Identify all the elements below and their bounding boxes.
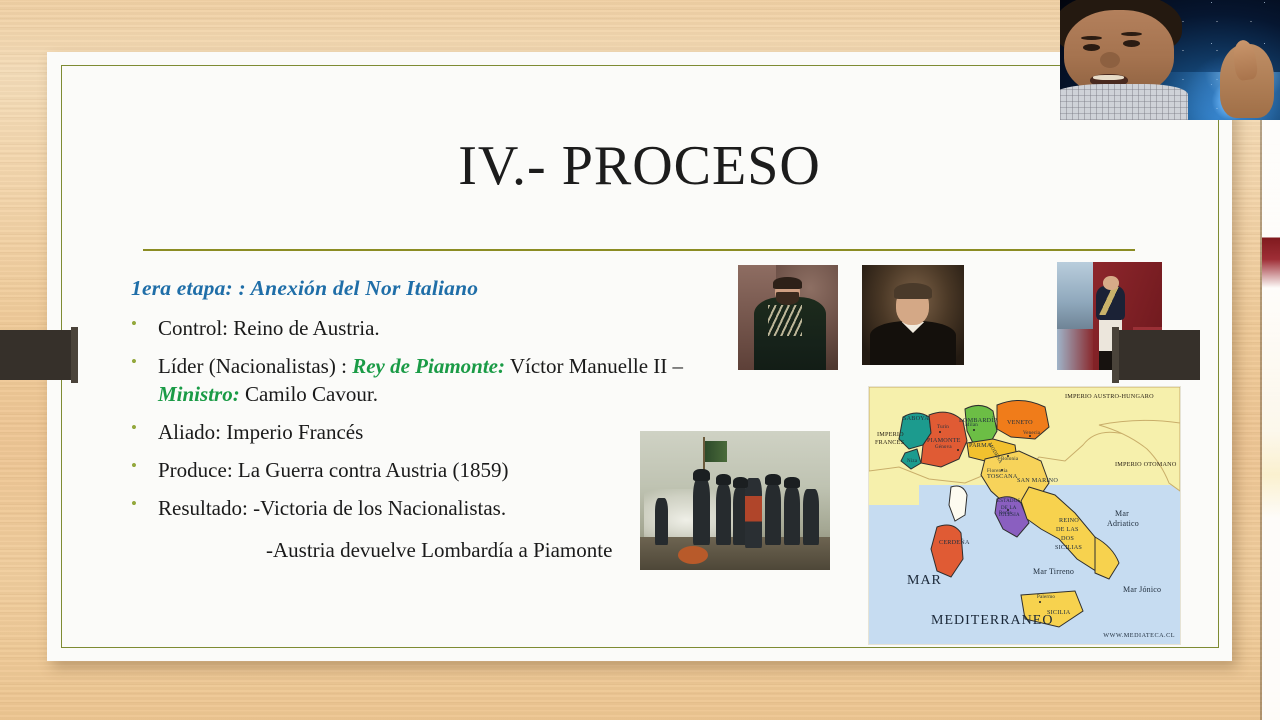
list-item: Líder (Nacionalistas) : Rey de Piamonte:… bbox=[131, 353, 751, 408]
bullet-text-lider: Líder (Nacionalistas) : Rey de Piamonte:… bbox=[145, 353, 751, 408]
map-label-mar-tirreno: Mar Tirreno bbox=[1033, 567, 1074, 576]
painting-battle-scene-1859 bbox=[640, 431, 830, 570]
map-label-dos-sicilias-3: DOS bbox=[1061, 535, 1074, 542]
map-label-toscana: TOSCANA bbox=[987, 473, 1018, 480]
map-watermark: WWW.MEDIATECA.CL bbox=[1103, 632, 1175, 639]
map-label-dos-sicilias-1: REINO bbox=[1059, 517, 1079, 524]
map-city-palermo: Palermo bbox=[1037, 595, 1055, 600]
bullet-text-resultado: Resultado: -Victoria de los Nacionalista… bbox=[145, 495, 612, 564]
map-label-mediterraneo: MEDITERRANEO bbox=[931, 613, 1053, 629]
title-divider-rule bbox=[143, 249, 1135, 251]
map-label-mar: MAR bbox=[907, 573, 942, 589]
map-italy-pre-unification: IMPERIO AUSTRO-HUNGARO IMPERIO FRANCÉS I… bbox=[868, 386, 1181, 645]
map-city-bolonia: Bolonia bbox=[1001, 457, 1018, 462]
map-city-venecia: Venecia bbox=[1023, 431, 1040, 436]
map-city-roma: Roma bbox=[999, 511, 1012, 516]
emphasis-ministro: Ministro: bbox=[158, 382, 240, 406]
emphasis-rey-de-piamonte: Rey de Piamonte: bbox=[352, 354, 505, 378]
bullet-dot-icon bbox=[131, 315, 145, 325]
page-title: IV.- PROCESO bbox=[47, 134, 1232, 198]
bullet-text-control: Control: Reino de Austria. bbox=[145, 315, 380, 342]
previous-slide-button[interactable] bbox=[0, 330, 78, 380]
presentation-viewer: IV.- PROCESO 1era etapa: : Anexión del N… bbox=[0, 0, 1280, 720]
map-city-milan: Milan bbox=[965, 423, 978, 428]
bullet-text-produce: Produce: La Guerra contra Austria (1859) bbox=[145, 457, 508, 484]
map-city-turin: Turin bbox=[937, 425, 949, 430]
list-item: Control: Reino de Austria. bbox=[131, 315, 751, 342]
map-label-imperio-frances: IMPERIO bbox=[877, 431, 904, 438]
bullet-dot-icon bbox=[131, 457, 145, 467]
map-label-mar-adriatico-1: Mar bbox=[1115, 509, 1129, 518]
lider-tail: Camilo Cavour. bbox=[240, 382, 378, 406]
resultado-line-1: Resultado: -Victoria de los Nacionalista… bbox=[158, 495, 612, 522]
nav-left-cap-icon bbox=[71, 327, 78, 383]
map-label-san-marino: SAN MARINO bbox=[1017, 477, 1058, 484]
map-label-imperio-austro-hungaro: IMPERIO AUSTRO-HUNGARO bbox=[1065, 393, 1154, 400]
map-label-imperio-otomano: IMPERIO OTOMANO bbox=[1115, 461, 1177, 468]
map-label-cerdena: CERDEÑA bbox=[939, 539, 970, 546]
map-label-dos-sicilias-4: SICILIAS bbox=[1055, 544, 1082, 551]
map-label-saboya: SABOYA bbox=[903, 415, 929, 422]
map-city-florencia: Florencia bbox=[987, 469, 1008, 474]
portrait-victor-emmanuel-ii bbox=[738, 265, 838, 370]
map-label-mar-jonico: Mar Jónico bbox=[1123, 585, 1161, 594]
map-city-genova: Génova bbox=[935, 445, 952, 450]
bullet-text-aliado: Aliado: Imperio Francés bbox=[145, 419, 363, 446]
resultado-line-2: -Austria devuelve Lombardía a Piamonte bbox=[158, 537, 612, 564]
map-label-dos-sicilias-2: DE LAS bbox=[1056, 526, 1079, 533]
lider-lead: Líder (Nacionalistas) : bbox=[158, 354, 352, 378]
nav-right-cap-icon bbox=[1112, 327, 1119, 383]
presenter-webcam-feed[interactable] bbox=[1060, 0, 1280, 120]
next-slide-button[interactable] bbox=[1112, 330, 1200, 380]
map-label-mar-adriatico-2: Adriatico bbox=[1107, 519, 1139, 528]
bullet-dot-icon bbox=[131, 353, 145, 363]
map-label-imperio-frances-2: FRANCÉS bbox=[875, 439, 904, 446]
map-city-niza: Niza bbox=[907, 459, 917, 464]
bullet-dot-icon bbox=[131, 419, 145, 429]
map-label-estados-1: ESTADOS bbox=[997, 499, 1021, 504]
section-subheading: 1era etapa: : Anexión del Nor Italiano bbox=[131, 276, 751, 301]
portrait-camillo-cavour bbox=[862, 265, 964, 365]
map-label-piamonte: PIAMONTE bbox=[927, 437, 961, 444]
bullet-dot-icon bbox=[131, 495, 145, 505]
map-label-veneto: VENETO bbox=[1007, 419, 1033, 426]
lider-mid: Víctor Manuelle II – bbox=[505, 354, 683, 378]
